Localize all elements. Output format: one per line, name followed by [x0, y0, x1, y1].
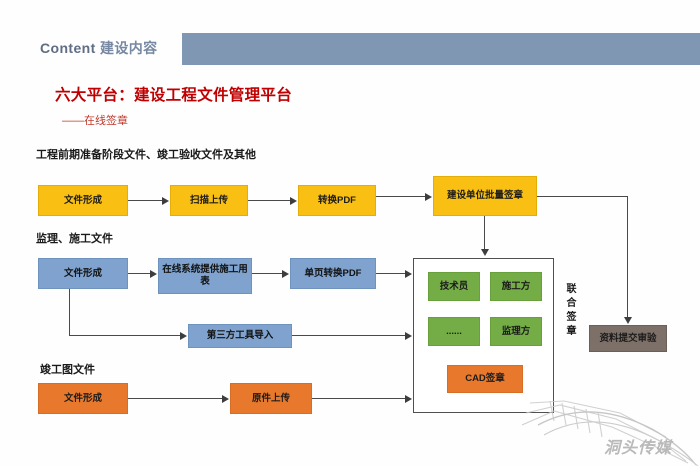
connector-line: [376, 196, 425, 197]
connector-line: [484, 216, 485, 249]
connector-line: [69, 289, 70, 336]
caption-row-3: 竣工图文件: [40, 361, 95, 377]
arrow-head-right: [150, 270, 157, 278]
arrow-head-down: [481, 249, 489, 256]
node-third-party-import[interactable]: 第三方工具导入: [188, 324, 292, 348]
joint-seal-vertical-label: 联合签章: [560, 283, 574, 339]
node-online-system-forms[interactable]: 在线系统提供施工用表: [158, 258, 252, 294]
connector-line: [248, 200, 290, 201]
connector-line: [376, 273, 405, 274]
caption-row-1: 工程前期准备阶段文件、竣工验收文件及其他: [36, 146, 256, 162]
node-convert-pdf[interactable]: 转换PDF: [298, 185, 376, 216]
header-label-en: Content: [40, 40, 96, 56]
node-document-submission-review[interactable]: 资料提交审验: [589, 325, 667, 352]
arrow-head-right: [282, 270, 289, 278]
connector-line: [69, 335, 180, 336]
arrow-head-right: [425, 193, 432, 201]
header-label: Content 建设内容: [40, 38, 158, 58]
arrow-head-right: [180, 332, 187, 340]
header-label-cn: 建设内容: [100, 40, 158, 56]
header-accent-bar: [182, 33, 700, 65]
page-title: 六大平台：建设工程文件管理平台: [55, 83, 292, 105]
arrow-head-right: [405, 332, 412, 340]
arrow-head-right: [222, 395, 229, 403]
caption-row-2: 监理、施工文件: [36, 230, 113, 246]
node-construction-party[interactable]: 施工方: [490, 272, 542, 301]
node-original-upload[interactable]: 原件上传: [230, 383, 312, 414]
connector-line: [537, 196, 628, 197]
connector-line: [292, 335, 405, 336]
node-file-creation-blue[interactable]: 文件形成: [38, 258, 128, 289]
connector-line: [252, 273, 282, 274]
node-technician[interactable]: 技术员: [428, 272, 480, 301]
node-single-page-pdf[interactable]: 单页转换PDF: [290, 258, 376, 289]
connector-line: [627, 196, 628, 317]
arrow-head-down: [624, 317, 632, 324]
connector-line: [128, 273, 150, 274]
page-subtitle: ——在线签章: [62, 112, 128, 128]
arrow-head-right: [405, 395, 412, 403]
slide-canvas: Content 建设内容 六大平台：建设工程文件管理平台 ——在线签章 工程前期…: [0, 0, 700, 466]
arrow-head-right: [290, 197, 297, 205]
node-supervision-party[interactable]: 监理方: [490, 317, 542, 346]
watermark-text: 洞头传媒: [604, 434, 672, 458]
arrow-head-right: [162, 197, 169, 205]
connector-line: [128, 398, 222, 399]
node-scan-upload[interactable]: 扫描上传: [170, 185, 248, 216]
node-cad-seal[interactable]: CAD签章: [447, 365, 523, 393]
connector-line: [312, 398, 405, 399]
node-file-creation-yellow[interactable]: 文件形成: [38, 185, 128, 216]
node-more-ellipsis[interactable]: ......: [428, 317, 480, 346]
node-builder-batch-seal[interactable]: 建设单位批量签章: [433, 176, 537, 216]
node-file-creation-orange[interactable]: 文件形成: [38, 383, 128, 414]
arrow-head-right: [405, 270, 412, 278]
connector-line: [128, 200, 162, 201]
